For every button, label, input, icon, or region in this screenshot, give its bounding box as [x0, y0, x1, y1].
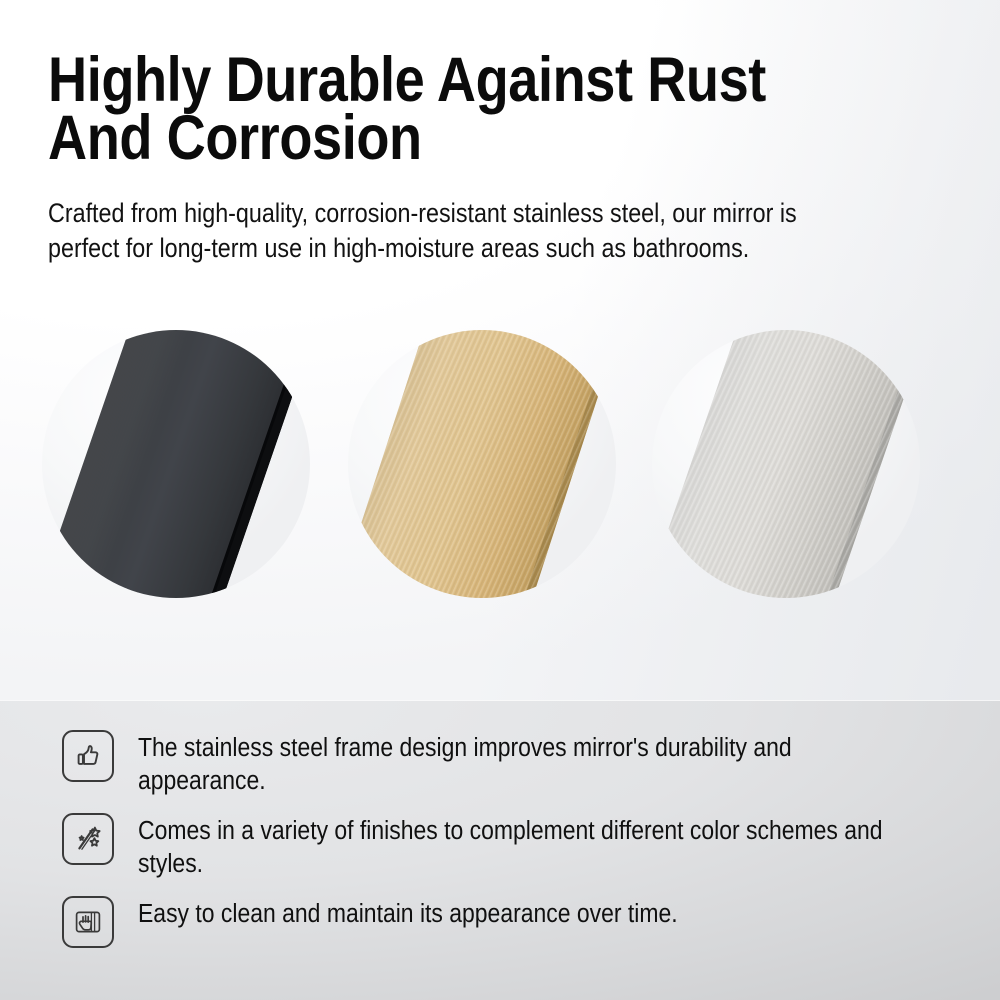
features-section: The stainless steel frame design improve… — [0, 700, 1000, 1000]
feature-label: The stainless steel frame design improve… — [138, 730, 880, 798]
frame-sample-black — [42, 330, 310, 598]
hero-section: Highly Durable Against Rust And Corrosio… — [0, 0, 1000, 700]
black-finish-swatch — [42, 330, 310, 598]
finish-swatch-gallery — [0, 330, 1000, 630]
brushed-silver-finish-swatch — [652, 330, 920, 598]
feature-item: Comes in a variety of finishes to comple… — [62, 813, 972, 881]
hero-subtitle: Crafted from high-quality, corrosion-res… — [48, 196, 831, 266]
feature-item: Easy to clean and maintain its appearanc… — [62, 896, 932, 948]
brushed-gold-finish-swatch — [348, 330, 616, 598]
feature-label: Comes in a variety of finishes to comple… — [138, 813, 889, 881]
feature-label: Easy to clean and maintain its appearanc… — [138, 896, 853, 931]
infographic-page: Highly Durable Against Rust And Corrosio… — [0, 0, 1000, 1000]
frame-sample-silver — [652, 330, 920, 598]
thumbs-up-icon — [62, 730, 114, 782]
hand-wiping-cloth-icon — [62, 896, 114, 948]
magic-wand-sparkle-icon — [62, 813, 114, 865]
feature-item: The stainless steel frame design improve… — [62, 730, 962, 798]
frame-sample-gold — [348, 330, 616, 598]
page-title: Highly Durable Against Rust And Corrosio… — [48, 52, 805, 168]
